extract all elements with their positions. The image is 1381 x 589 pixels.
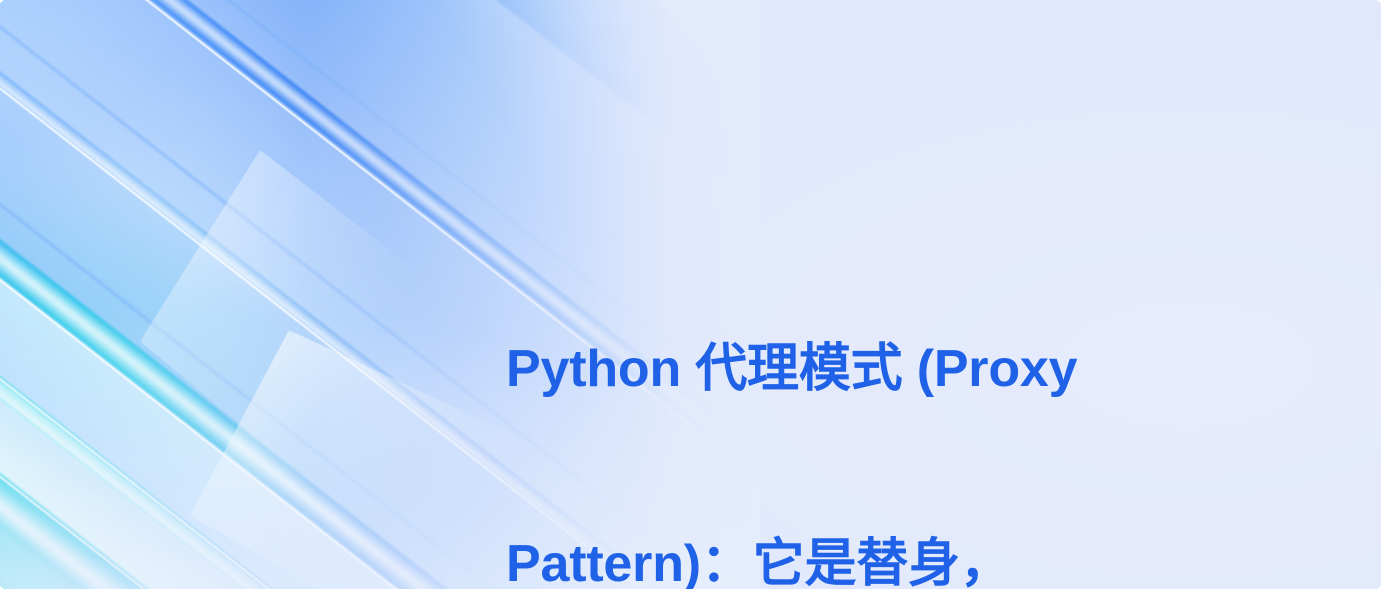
cover-canvas: Python 代理模式 (Proxy Pattern)：它是替身， 但却能掌控生… <box>0 0 1381 589</box>
headline-line-2: Pattern)：它是替身， <box>506 532 1206 589</box>
cover-headline: Python 代理模式 (Proxy Pattern)：它是替身， 但却能掌控生… <box>506 207 1206 589</box>
headline-line-1: Python 代理模式 (Proxy <box>506 337 1206 402</box>
